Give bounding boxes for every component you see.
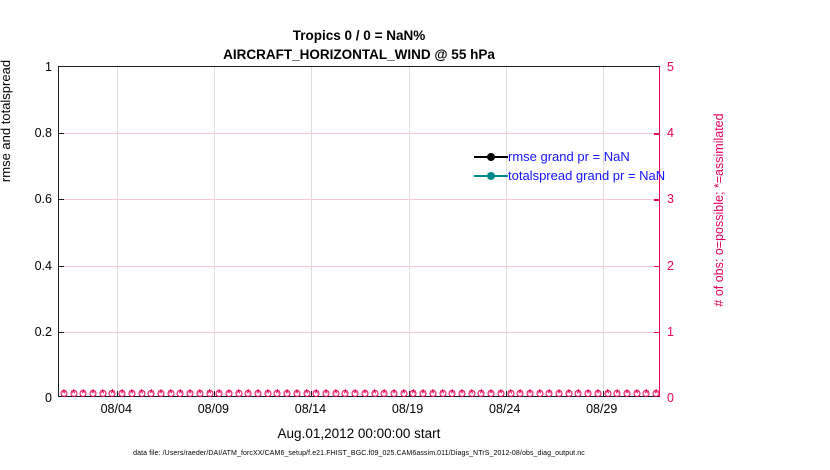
obs-assimilated-marker: * bbox=[537, 388, 542, 399]
gridline-horizontal bbox=[59, 133, 659, 134]
y-axis-right-tick-label: 0 bbox=[667, 391, 674, 405]
obs-assimilated-marker: * bbox=[90, 388, 95, 399]
y-axis-left-tick-label: 0 bbox=[45, 391, 52, 405]
obs-assimilated-marker: * bbox=[168, 388, 173, 399]
obs-assimilated-marker: * bbox=[440, 388, 445, 399]
obs-assimilated-marker: * bbox=[285, 388, 290, 399]
obs-assimilated-marker: * bbox=[498, 388, 503, 399]
legend-dot-icon bbox=[487, 153, 495, 161]
y-axis-right-tick-label: 2 bbox=[667, 259, 674, 273]
gridline-vertical bbox=[117, 67, 118, 396]
obs-assimilated-marker: * bbox=[595, 388, 600, 399]
obs-assimilated-marker: * bbox=[401, 388, 406, 399]
y-axis-left-tick-label: 1 bbox=[45, 60, 52, 74]
legend-label: rmse grand pr = NaN bbox=[508, 149, 630, 164]
obs-assimilated-marker: * bbox=[158, 388, 163, 399]
obs-assimilated-marker: * bbox=[615, 388, 620, 399]
obs-assimilated-marker: * bbox=[178, 388, 183, 399]
legend-item: rmse grand pr = NaN bbox=[474, 148, 665, 165]
obs-assimilated-marker: * bbox=[275, 388, 280, 399]
obs-assimilated-marker: * bbox=[129, 388, 134, 399]
y-axis-right-tick-label: 1 bbox=[667, 325, 674, 339]
x-axis-tick-label: 08/24 bbox=[489, 402, 520, 416]
y-axis-left-tick-label: 0.4 bbox=[35, 259, 52, 273]
y-axis-right-tick-label: 3 bbox=[667, 192, 674, 206]
gridline-vertical bbox=[409, 67, 410, 396]
obs-assimilated-marker: * bbox=[566, 388, 571, 399]
obs-assimilated-marker: * bbox=[450, 388, 455, 399]
obs-assimilated-marker: * bbox=[197, 388, 202, 399]
gridline-horizontal bbox=[59, 266, 659, 267]
obs-assimilated-marker: * bbox=[421, 388, 426, 399]
y-axis-right-tick-mark bbox=[654, 199, 659, 200]
obs-assimilated-marker: * bbox=[207, 388, 212, 399]
y-axis-left-tick-mark bbox=[59, 133, 64, 134]
obs-assimilated-marker: * bbox=[459, 388, 464, 399]
y-axis-left-tick-mark bbox=[59, 266, 64, 267]
y-axis-left-tick-label: 0.8 bbox=[35, 126, 52, 140]
y-axis-left-label: rmse and totalspread bbox=[0, 11, 13, 231]
obs-assimilated-marker: * bbox=[430, 388, 435, 399]
x-axis-tick-label: 08/04 bbox=[101, 402, 132, 416]
obs-assimilated-marker: * bbox=[81, 388, 86, 399]
obs-assimilated-marker: * bbox=[188, 388, 193, 399]
obs-assimilated-marker: * bbox=[547, 388, 552, 399]
legend-marker-icon bbox=[474, 150, 508, 164]
obs-assimilated-marker: * bbox=[372, 388, 377, 399]
obs-assimilated-marker: * bbox=[61, 388, 66, 399]
obs-assimilated-marker: * bbox=[226, 388, 231, 399]
obs-assimilated-marker: * bbox=[314, 388, 319, 399]
y-axis-left-tick-mark bbox=[59, 199, 64, 200]
y-axis-left-tick-label: 0.2 bbox=[35, 325, 52, 339]
obs-assimilated-marker: * bbox=[323, 388, 328, 399]
obs-assimilated-marker: * bbox=[634, 388, 639, 399]
obs-assimilated-marker: * bbox=[527, 388, 532, 399]
legend-marker-icon bbox=[474, 169, 508, 183]
obs-assimilated-marker: * bbox=[586, 388, 591, 399]
gridline-vertical bbox=[603, 67, 604, 396]
obs-assimilated-marker: * bbox=[139, 388, 144, 399]
chart-title: Tropics 0 / 0 = NaN% AIRCRAFT_HORIZONTAL… bbox=[58, 26, 660, 64]
obs-assimilated-marker: * bbox=[508, 388, 513, 399]
obs-assimilated-marker: * bbox=[100, 388, 105, 399]
obs-assimilated-marker: * bbox=[217, 388, 222, 399]
obs-assimilated-marker: * bbox=[382, 388, 387, 399]
obs-assimilated-marker: * bbox=[469, 388, 474, 399]
obs-assimilated-marker: * bbox=[654, 388, 659, 399]
x-axis-tick-label: 08/09 bbox=[198, 402, 229, 416]
y-axis-right-tick-mark bbox=[654, 133, 659, 134]
y-axis-right-tick-label: 4 bbox=[667, 126, 674, 140]
chart-title-line-1: Tropics 0 / 0 = NaN% bbox=[58, 26, 660, 45]
obs-assimilated-marker: * bbox=[391, 388, 396, 399]
chart-legend: rmse grand pr = NaNtotalspread grand pr … bbox=[474, 148, 665, 184]
figure-canvas: Tropics 0 / 0 = NaN% AIRCRAFT_HORIZONTAL… bbox=[0, 0, 830, 470]
gridline-vertical bbox=[506, 67, 507, 396]
data-file-caption: data file: /Users/raeder/DAI/ATM_forcXX/… bbox=[58, 450, 660, 457]
y-axis-right-tick-mark bbox=[654, 332, 659, 333]
obs-assimilated-marker: * bbox=[149, 388, 154, 399]
x-axis-tick-label: 08/14 bbox=[295, 402, 326, 416]
y-axis-right-tick-mark bbox=[654, 266, 659, 267]
obs-assimilated-marker: * bbox=[246, 388, 251, 399]
legend-dot-icon bbox=[487, 172, 495, 180]
obs-assimilated-marker: * bbox=[605, 388, 610, 399]
obs-assimilated-marker: * bbox=[256, 388, 261, 399]
y-axis-left-tick-label: 0.6 bbox=[35, 192, 52, 206]
obs-assimilated-marker: * bbox=[624, 388, 629, 399]
gridline-horizontal bbox=[59, 199, 659, 200]
obs-assimilated-marker: * bbox=[644, 388, 649, 399]
gridline-vertical bbox=[214, 67, 215, 396]
legend-label: totalspread grand pr = NaN bbox=[508, 168, 665, 183]
obs-assimilated-marker: * bbox=[71, 388, 76, 399]
y-axis-left-tick-mark bbox=[59, 332, 64, 333]
obs-assimilated-marker: * bbox=[304, 388, 309, 399]
gridline-vertical bbox=[311, 67, 312, 396]
obs-assimilated-marker: * bbox=[518, 388, 523, 399]
obs-assimilated-marker: * bbox=[411, 388, 416, 399]
obs-assimilated-marker: * bbox=[479, 388, 484, 399]
obs-assimilated-marker: * bbox=[236, 388, 241, 399]
x-axis-label: Aug.01,2012 00:00:00 start bbox=[58, 426, 660, 441]
obs-assimilated-marker: * bbox=[576, 388, 581, 399]
legend-item: totalspread grand pr = NaN bbox=[474, 167, 665, 184]
gridline-horizontal bbox=[59, 332, 659, 333]
y-axis-right-label: # of obs: o=possible; *=assimilated bbox=[712, 45, 726, 375]
obs-assimilated-marker: * bbox=[110, 388, 115, 399]
obs-assimilated-marker: * bbox=[557, 388, 562, 399]
obs-assimilated-marker: * bbox=[294, 388, 299, 399]
chart-title-line-2: AIRCRAFT_HORIZONTAL_WIND @ 55 hPa bbox=[58, 45, 660, 64]
plot-area: 00.20.40.60.81 012345 ******************… bbox=[58, 66, 660, 397]
obs-assimilated-marker: * bbox=[489, 388, 494, 399]
observation-markers-series: ****************************************… bbox=[59, 388, 659, 400]
obs-assimilated-marker: * bbox=[353, 388, 358, 399]
obs-assimilated-marker: * bbox=[362, 388, 367, 399]
y-axis-right-tick-label: 5 bbox=[667, 60, 674, 74]
obs-assimilated-marker: * bbox=[265, 388, 270, 399]
x-axis-tick-label: 08/19 bbox=[392, 402, 423, 416]
x-axis-tick-label: 08/29 bbox=[586, 402, 617, 416]
obs-assimilated-marker: * bbox=[120, 388, 125, 399]
obs-assimilated-marker: * bbox=[343, 388, 348, 399]
obs-assimilated-marker: * bbox=[333, 388, 338, 399]
